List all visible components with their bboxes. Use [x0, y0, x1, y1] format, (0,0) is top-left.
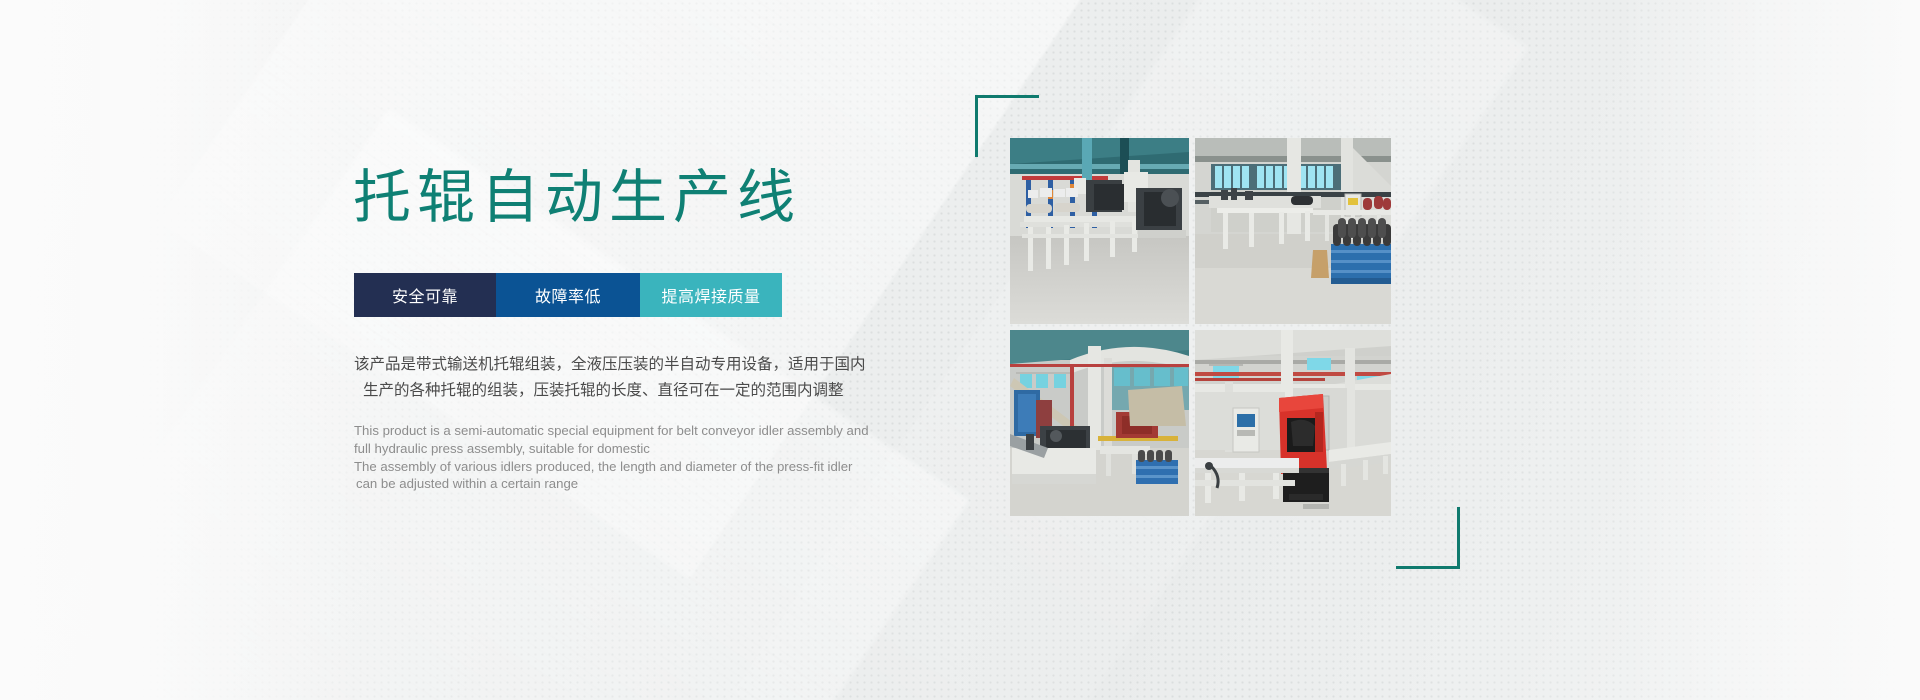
promo-banner: 托辊自动生产线 安全可靠 故障率低 提高焊接质量 该产品是带式输送机托辊组装，全…	[0, 0, 1920, 700]
photo-conveyor-line[interactable]	[1010, 138, 1189, 324]
description-en-line-2: full hydraulic press assembly, suitable …	[354, 440, 894, 458]
photo-workbench-rollers[interactable]	[1195, 138, 1391, 324]
photo-assembly-machines[interactable]	[1010, 330, 1189, 516]
description-chinese: 该产品是带式输送机托辊组装，全液压压装的半自动专用设备，适用于国内 生产的各种托…	[354, 351, 914, 403]
description-cn-line-1: 该产品是带式输送机托辊组装，全液压压装的半自动专用设备，适用于国内	[354, 355, 866, 373]
description-cn-line-2: 生产的各种托辊的组装，压装托辊的长度、直径可在一定的范围内调整	[354, 377, 914, 403]
badge-improve-weld-quality[interactable]: 提高焊接质量	[640, 273, 782, 317]
description-en-line-4: can be adjusted within a certain range	[354, 475, 894, 493]
badge-label: 故障率低	[535, 283, 601, 307]
description-en-line-1: This product is a semi-automatic special…	[354, 422, 894, 440]
photo-red-press-machine[interactable]	[1195, 330, 1391, 516]
badge-label: 提高焊接质量	[661, 283, 760, 307]
photo-grid	[1010, 138, 1391, 516]
description-en-line-3: The assembly of various idlers produced,…	[354, 458, 894, 476]
background-left-fade	[0, 0, 360, 700]
description-english: This product is a semi-automatic special…	[354, 422, 894, 493]
badge-safety-reliable[interactable]: 安全可靠	[354, 273, 496, 317]
photo-gallery	[975, 95, 1455, 565]
banner-text-column: 托辊自动生产线 安全可靠 故障率低 提高焊接质量 该产品是带式输送机托辊组装，全…	[353, 0, 953, 700]
badge-label: 安全可靠	[392, 283, 458, 307]
badge-low-failure-rate[interactable]: 故障率低	[496, 273, 640, 317]
corner-bracket-bottom-right-icon	[1396, 507, 1460, 569]
page-title: 托辊自动生产线	[353, 168, 801, 226]
background-right-fade	[1620, 0, 1920, 700]
feature-badge-row: 安全可靠 故障率低 提高焊接质量	[354, 273, 782, 317]
